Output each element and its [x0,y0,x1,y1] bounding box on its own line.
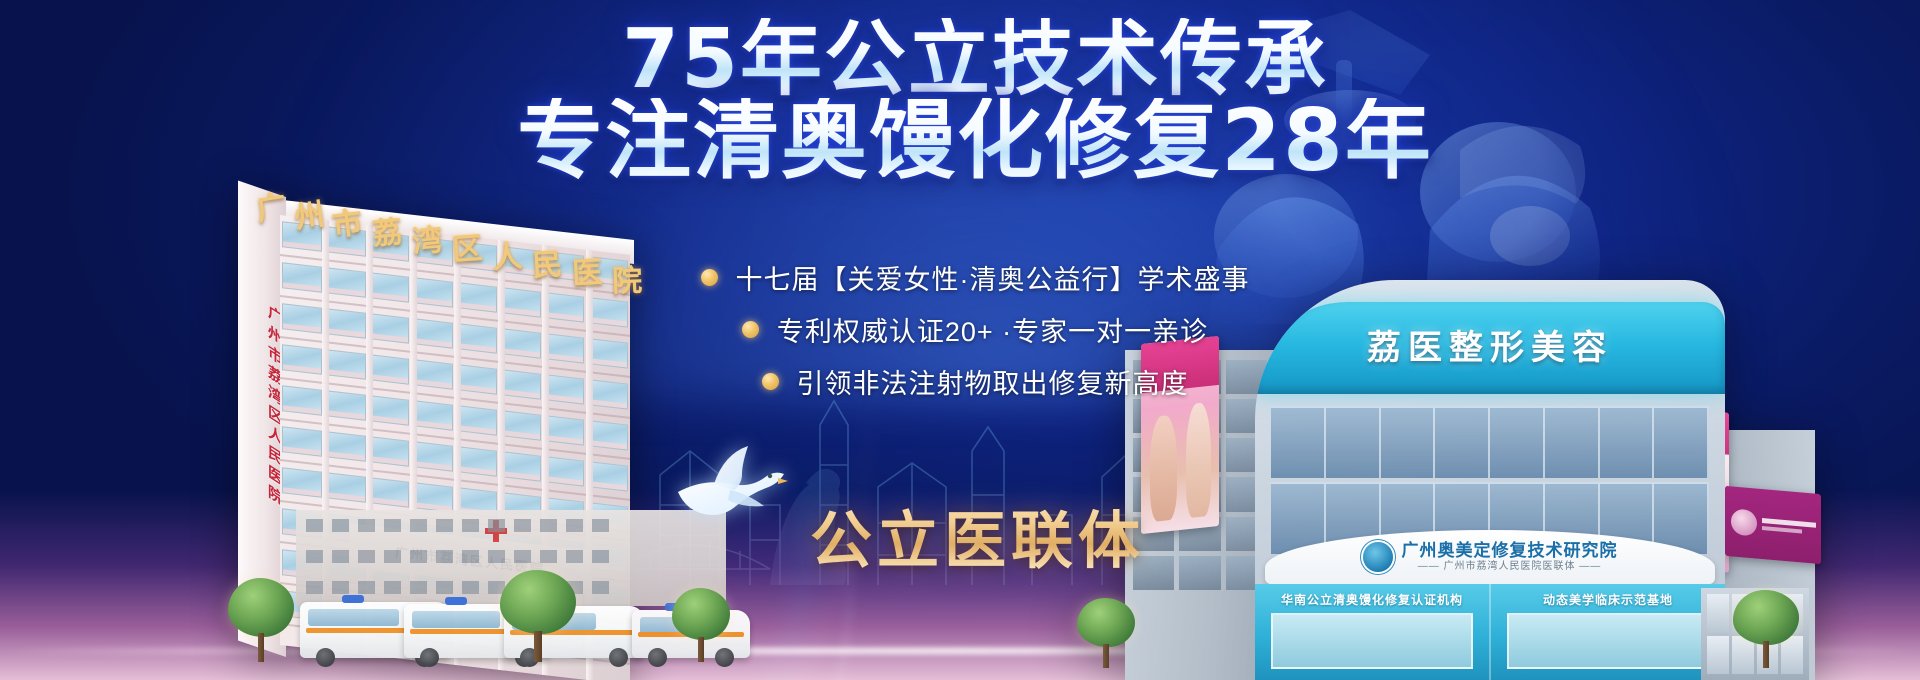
building-roof [274,199,634,264]
blue-bar-text-right: 动态美学临床示范基地 [1543,591,1673,608]
bullet-item-3: 引领非法注射物取出修复新高度 [470,362,1480,401]
gold-slogan: 公立医联体 [810,490,1145,580]
tree [1077,598,1135,668]
clinic-entrance-bar: 华南公立清奥馒化修复认证机构 动态美学临床示范基地 [1255,584,1725,680]
building-side-wall: 广州市荔湾区人民医院 [238,180,286,657]
ground-light-line [0,648,1920,654]
hospital-rear-block [296,510,726,606]
bullet-text: 十七届【关爱女性·清奥公益行】学术盛事 [736,258,1250,297]
entrance-panel-left: 华南公立清奥馒化修复认证机构 [1255,584,1491,680]
bullet-text: 引领非法注射物取出修复新高度 [797,362,1189,401]
headline-line-2: 专注清奥馒化修复28年 [470,98,1480,186]
roof-sign-char: 湾 [410,215,444,261]
bullet-item-2: 专利权威认证20+ ·专家一对一亲诊 [470,310,1480,349]
institute-sign: 广州奥美定修复技术研究院 —— 广州市荔湾人民医院医联体 —— [1265,530,1715,584]
bullet-text: 专利权威认证20+ ·专家一对一亲诊 [777,310,1208,349]
ambulance [504,606,644,658]
institute-seal-icon [1363,542,1393,572]
headline-line-1: 75年公立技术传承 [470,18,1480,102]
tree [1733,590,1799,668]
ambulance [300,602,450,658]
blue-bar-text-left: 华南公立清奥馒化修复认证机构 [1281,591,1463,608]
ground-haze [0,490,1920,680]
bullet-dot-icon [762,373,779,390]
bullet-dot-icon [701,269,718,286]
headline: 75年公立技术传承 专注清奥馒化修复28年 [470,18,1480,185]
roof-sign-char: 州 [291,189,327,237]
storefront-strip [1701,588,1809,680]
roof-sign-char: 广 [253,181,290,229]
entrance-panel-right: 动态美学临床示范基地 [1491,584,1725,680]
roof-sign-char: 市 [329,197,364,244]
roof-sign-char: 荔 [370,207,404,254]
bullet-list: 十七届【关爱女性·清奥公益行】学术盛事 专利权威认证20+ ·专家一对一亲诊 引… [470,258,1480,414]
bullet-dot-icon [742,321,759,338]
ambulance [632,610,750,658]
ambulance [404,604,550,658]
institute-subtitle: —— 广州市荔湾人民医院医联体 —— [1418,561,1602,574]
right-clinic-building: 荔医整形美容 广州奥美定修复技术研究院 —— 广州市荔湾人民医院医联体 —— 华… [1125,150,1815,680]
building-vertical-sign: 广州市荔湾区人民医院 [252,292,286,514]
clinic-logo-icon [1731,508,1757,536]
billboard-clinic-logo [1725,486,1821,564]
clinic-door [1507,613,1708,669]
institute-title: 广州奥美定修复技术研究院 [1402,540,1618,561]
clinic-door [1271,613,1472,669]
bullet-item-1: 十七届【关爱女性·清奥公益行】学术盛事 [470,258,1480,297]
medical-hospital-banner: 广州市荔湾区人民医院 广 州 市 荔 湾 [0,0,1920,680]
clinic-right-wing [1705,430,1815,680]
tree [228,578,294,662]
billboard-beauty [1667,407,1729,572]
